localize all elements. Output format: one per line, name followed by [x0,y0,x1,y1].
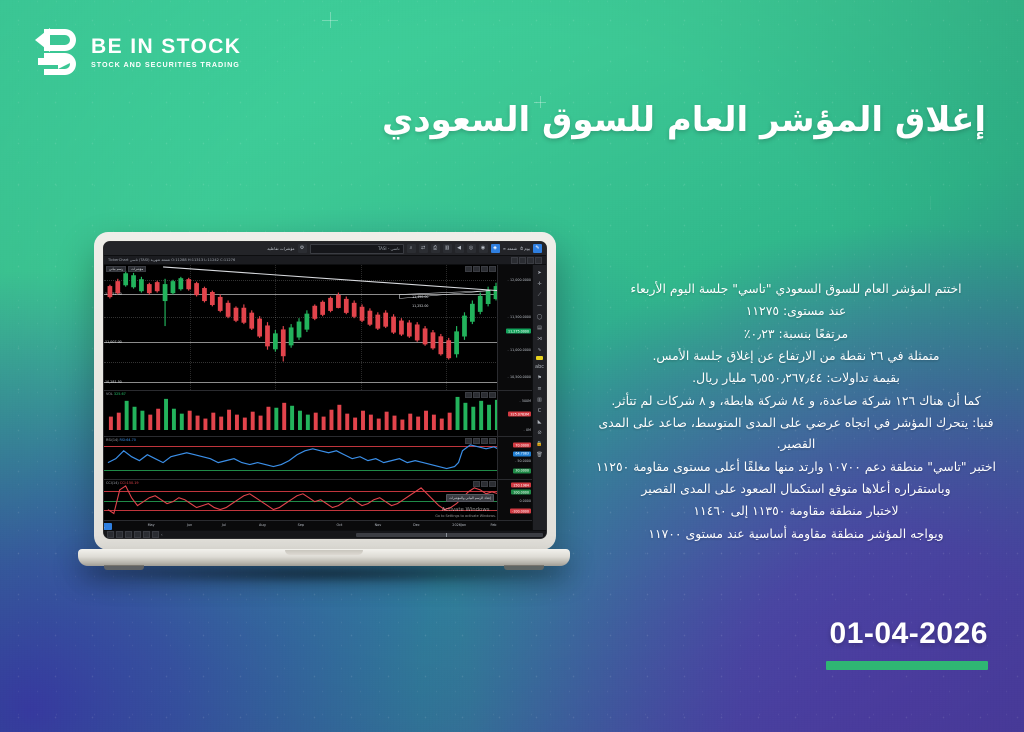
price-tick-4: 10,500.0000 [507,375,531,379]
price-axis[interactable]: 12,000.0000 11,500.0000 11,000.0000 10,5… [497,265,532,390]
poster: BE IN STOCK STOCK AND SECURITIES TRADING… [0,0,1024,732]
trash-icon[interactable]: 🗑 [535,450,544,459]
copy-line-4: بقيمة تداولات: ٦٫٥٥٠٫٢٦٧٫٤٤ مليار ريال. [596,367,996,388]
volume-tool-4-icon[interactable] [489,392,496,398]
volume-series [104,391,498,430]
timeframe-daily-label: يومي [103,525,105,529]
cci-settings-tooltip: إعداد الرسم البياني والمؤشرات [446,494,494,502]
price-pane-tools[interactable] [465,266,496,272]
gann-fan-icon[interactable]: ⋊ [535,334,544,343]
brand-name: BE IN STOCK [91,36,241,57]
trendline-icon[interactable]: ⟋ [535,290,544,299]
cci-tick-neg100: -100.0000 [510,509,531,514]
indicators-button[interactable]: مؤشرات [128,266,146,272]
hide-drawings-icon[interactable]: ⊘ [535,428,544,437]
cci-tool-3-icon[interactable] [489,481,496,487]
price-tick-3: 11,000.0000 [507,348,531,352]
rsi-tool-2-icon[interactable] [473,438,480,444]
cci-pane-tools[interactable] [473,481,496,487]
fib-retracement-icon[interactable]: ▤ [535,323,544,332]
save-chart-icon[interactable] [143,531,150,538]
rsi-tool-4-icon[interactable] [489,438,496,444]
date-text: 01-04-2026 [826,617,988,651]
rsi-axis[interactable]: 70.0000 64.7083 50.0000 30.0000 [497,437,532,479]
volume-pane[interactable]: VOL 325.67 [104,391,532,437]
copy-line-1: عند مستوى: ١١٢٧٥ [596,300,996,321]
price-grid-3 [104,382,532,383]
symbol-search-value: TASI - تاسي [378,246,400,251]
zoom-in-icon[interactable] [107,531,114,538]
horizontal-scroll-row[interactable]: ‹ [104,530,546,538]
volume-tool-3-icon[interactable] [481,392,488,398]
chart-scrollbar[interactable] [356,533,543,537]
x-label-8: 2026Jan [452,523,466,527]
pane-collapse-icon[interactable] [511,257,518,264]
article-body: اختتم المؤشر العام للسوق السعودي "تاسي" … [596,278,996,545]
gear-icon[interactable]: ⚙ [298,244,307,253]
search-icon[interactable]: ⌕ [407,244,416,253]
copy-line-8: وباستقراره أعلاها متوقع استكمال الصعود ع… [596,478,996,499]
copy-line-6: فنيا: يتحرك المؤشر في اتجاه عرضي على الم… [596,412,996,455]
laptop-mockup: مؤشرات تفاعلية ⚙ TASI - تاسي ⌕ ⇄ ⎙ ▥ ◀ ◎… [78,232,570,592]
volume-tool-2-icon[interactable] [473,392,480,398]
pane-tool-4-icon[interactable] [489,266,496,272]
scrollbar-thumb[interactable] [446,533,447,537]
volume-tick-2: 0M [523,428,531,432]
pane-tool-2-icon[interactable] [473,266,480,272]
date-underline [826,661,988,670]
bar-pattern-icon[interactable]: ▥ [535,395,544,404]
drawing-tools-rail[interactable]: ➤ ✛ ⟋ — ◯ ▤ ⋊ ∿ abc ⚑ ≡ ▥ [532,265,546,530]
x-label-6: Nov [375,523,382,527]
brush-icon[interactable]: ◣ [535,417,544,426]
x-label-3: Aug [259,523,266,527]
pane-hide-icon[interactable] [527,257,534,264]
pane-menu-icon[interactable] [535,257,542,264]
chart-stack: رسم بياني مؤشرات [104,265,532,530]
cci-pane-label: CCI(14) CCI:150.19 [106,481,139,485]
reset-zoom-icon[interactable] [125,531,132,538]
ohlc-info-text: TickerChart تاسي (TASI) شمعة شهرية O:112… [108,258,235,262]
cci-tool-2-icon[interactable] [481,481,488,487]
rsi-tick-30: 30.0000 [513,468,531,473]
volume-value: 325.67 [114,392,126,396]
magnet-icon[interactable]: C [535,406,544,415]
x-label-2: Jul [222,523,226,527]
price-annotation-2: 11,252.00 [412,304,428,308]
cci-axis[interactable]: 150.1984 100.0000 0.0000 -100.0000 [497,480,532,520]
x-label-5: Oct [336,523,342,527]
rsi-tick-50: 50.0000 [515,459,531,463]
zigzag-icon[interactable]: ∿ [535,345,544,354]
crosshair-icon[interactable]: ✛ [535,279,544,288]
timeframe-icon[interactable]: ⏱ يوم [520,246,530,251]
price-tick-2: 11,500.0000 [507,315,531,319]
alert-icon[interactable]: ◎ [467,244,476,253]
be-in-stock-logo-icon [28,24,80,80]
volume-label: VOL [106,392,113,396]
cci-tick-100: 100.0000 [511,490,531,495]
copy-line-7: اختبر "تاسي" منطقة دعم ١٠٧٠٠ وارتد منها … [596,456,996,477]
laptop-base [78,549,570,566]
app-toolbar: مؤشرات تفاعلية ⚙ TASI - تاسي ⌕ ⇄ ⎙ ▥ ◀ ◎… [104,242,546,256]
rsi-pane[interactable]: RSI(14) RSI:64.70 [104,437,532,480]
color-swatch-yellow-icon[interactable] [536,356,543,360]
chart-type-button[interactable]: رسم بياني [106,266,126,272]
cci-last-badge: 150.1984 [511,483,531,488]
time-axis[interactable]: يومي May Jun Jul Aug Sep Oct Nov Dec 20 [104,520,532,530]
copy-line-2: مرتفعًا بنسبة: ٠٫٢٣٪ [596,323,996,344]
rsi-tick-70: 70.0000 [513,443,531,448]
laptop-screen-bezel: مؤشرات تفاعلية ⚙ TASI - تاسي ⌕ ⇄ ⎙ ▥ ◀ ◎… [103,241,547,539]
volume-axis[interactable]: 500M 0M 325.0763M [497,391,532,436]
x-label-4: Sep [298,523,304,527]
laptop-shadow [88,564,560,584]
indicator-icon[interactable]: ▥ [443,244,452,253]
rsi-pane-label: RSI(14) RSI:64.70 [106,438,136,442]
volume-tool-1-icon[interactable] [465,392,472,398]
print-chart-icon[interactable] [152,531,159,538]
volume-pane-tools[interactable] [465,392,496,398]
volume-last-badge: 325.0763M [508,412,531,417]
candlestick-series [104,265,498,373]
date-block: 01-04-2026 [826,617,988,670]
zoom-out-icon[interactable] [116,531,123,538]
volume-tick-1: 500M [519,399,531,403]
ellipse-icon[interactable]: ◯ [535,312,544,321]
copy-line-5: كما أن هناك ١٢٦ شركة صاعدة، و ٨٤ شركة ها… [596,390,996,411]
measure-icon[interactable]: ≡ [535,384,544,393]
settings-icon[interactable]: ◉ [479,244,488,253]
compare-icon[interactable]: ⇄ [419,244,428,253]
lock-icon[interactable]: 🔒 [535,439,544,448]
text-icon[interactable]: abc [535,362,544,371]
rsi-series [104,437,498,476]
cursor-icon[interactable]: ➤ [535,268,544,277]
toolbar-right-label: مؤشرات تفاعلية [267,246,294,251]
ohlc-info-bar: TickerChart تاسي (TASI) شمعة شهرية O:112… [104,256,546,265]
rsi-tool-3-icon[interactable] [481,438,488,444]
cci-tick-0: 0.0000 [519,499,531,503]
price-left-level-3: 10,281.50 [105,380,122,384]
copy-line-0: اختتم المؤشر العام للسوق السعودي "تاسي" … [596,278,996,299]
laptop-lid: مؤشرات تفاعلية ⚙ TASI - تاسي ⌕ ⇄ ⎙ ▥ ◀ ◎… [94,232,556,550]
laptop-foot-right [504,565,544,570]
app-body: رسم بياني مؤشرات [104,265,546,530]
price-pane[interactable]: رسم بياني مؤشرات [104,265,532,391]
cci-label: CCI(14) [106,481,119,485]
sound-icon[interactable]: ◀ [455,244,464,253]
copy-line-10: ويواجه المؤشر منطقة مقاومة أساسية عند مس… [596,523,996,544]
pane-settings-icon[interactable] [519,257,526,264]
layers-icon[interactable]: ◈ [491,244,500,253]
pen-tool-icon[interactable]: ✎ [533,244,542,253]
flag-icon[interactable]: ⚑ [535,373,544,382]
fullscreen-icon[interactable] [134,531,141,538]
rsi-pane-tools[interactable] [465,438,496,444]
brand-tagline: STOCK AND SECURITIES TRADING [91,61,241,68]
last-price-badge: 11,275.0000 [506,329,531,334]
rsi-label: RSI(14) [106,438,118,442]
pane-tool-1-icon[interactable] [465,266,472,272]
x-label-1: Jun [187,523,192,527]
trading-app: مؤشرات تفاعلية ⚙ TASI - تاسي ⌕ ⇄ ⎙ ▥ ◀ ◎… [104,242,546,538]
price-annotation-1: 11,450.00 [412,295,428,299]
copy-line-3: متمثلة في ٢٦ نقطة من الارتفاع عن إغلاق ج… [596,345,996,366]
page-title: إغلاق المؤشر العام للسوق السعودي [0,100,986,140]
price-tick-1: 12,000.0000 [507,278,531,282]
horizontal-line-icon[interactable]: — [535,301,544,310]
scroll-arrow-icon[interactable]: ‹ [161,532,163,537]
cci-pane[interactable]: CCI(14) CCI:150.19 [104,480,532,520]
x-label-7: Dec [413,523,420,527]
rsi-last-badge: 64.7083 [513,451,531,456]
symbol-search-input[interactable]: TASI - تاسي [310,244,404,254]
timeframe-daily-button[interactable]: يومي [103,523,112,530]
x-label-0: May [148,523,155,527]
rsi-value: RSI:64.70 [120,438,136,442]
snapshot-icon[interactable]: ⎙ [431,244,440,253]
cci-tool-1-icon[interactable] [473,481,480,487]
x-label-9: Feb [490,523,496,527]
cci-series [104,480,498,519]
rsi-tool-1-icon[interactable] [465,438,472,444]
copy-line-9: لاختبار منطقة مقاومة ١١٣٥٠ إلى ١١٤٦٠ [596,500,996,521]
brand-logo[interactable]: BE IN STOCK STOCK AND SECURITIES TRADING [28,24,241,80]
laptop-notch [285,550,363,555]
volume-pane-label: VOL 325.67 [106,392,126,396]
cci-value: CCI:150.19 [120,481,139,485]
laptop-foot-left [104,565,144,570]
bar-count-icon[interactable]: ∞ شمعة [503,246,517,251]
pane-tool-3-icon[interactable] [481,266,488,272]
